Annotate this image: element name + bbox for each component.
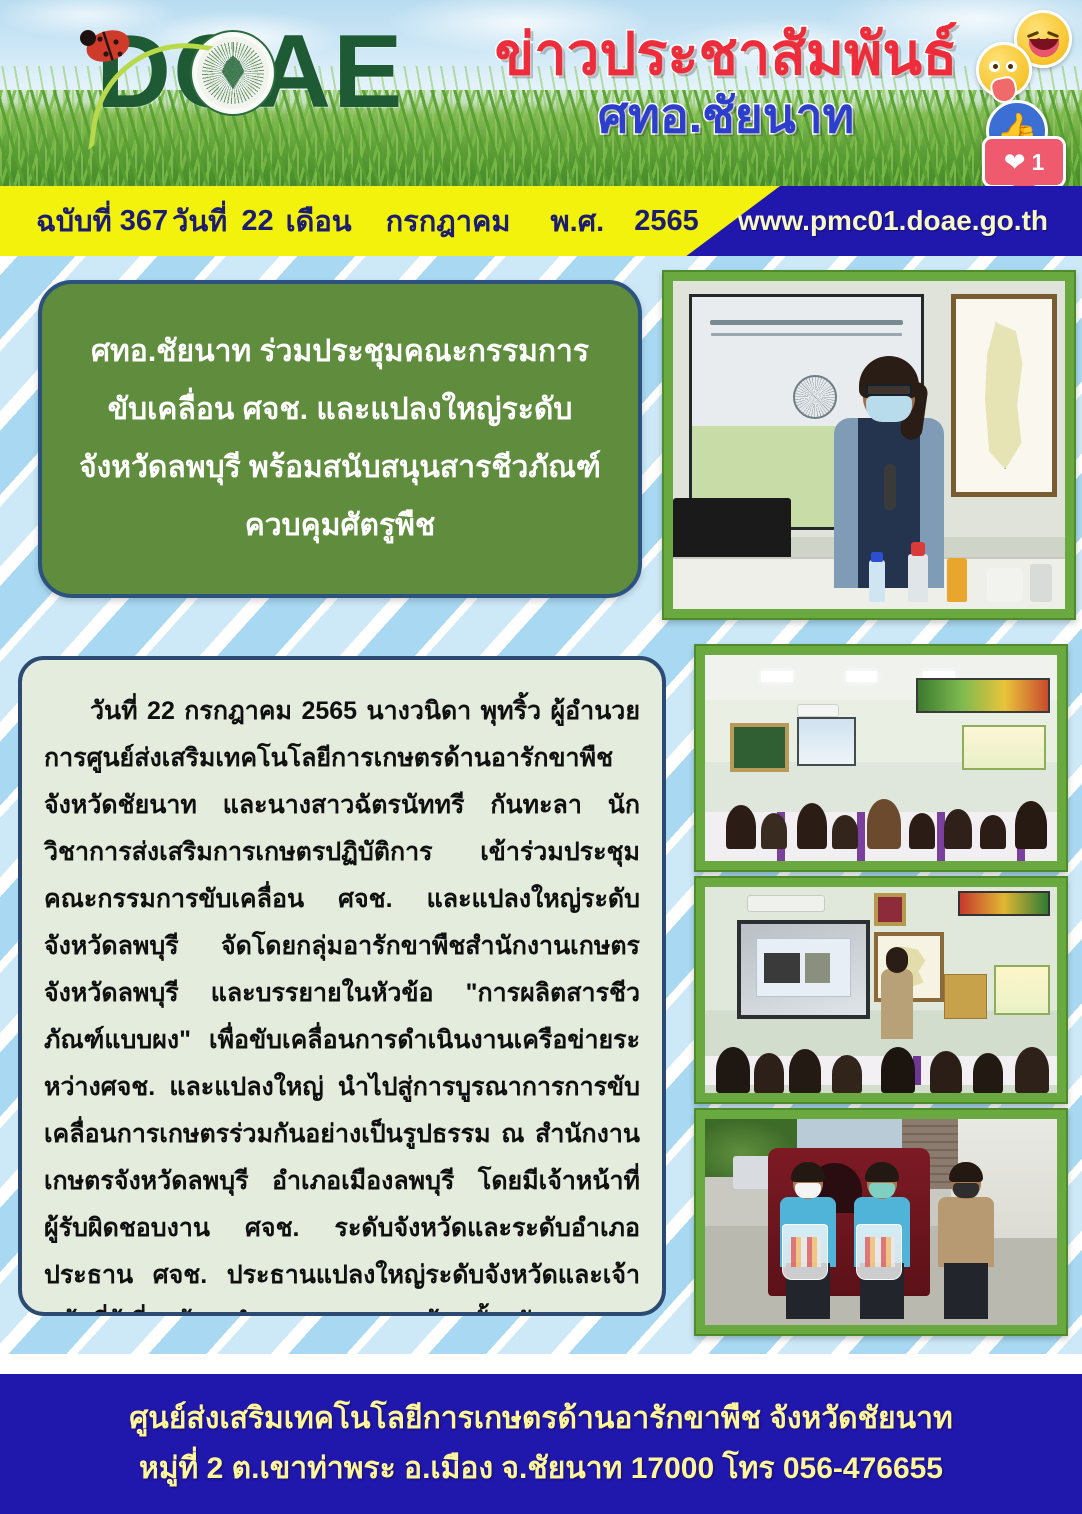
footer-address: หมู่ที่ 2 ต.เขาท่าพระ อ.เมือง จ.ชัยนาท 1…	[139, 1447, 943, 1491]
issue-bar: ฉบับที่ 367 วันที่ 22 เดือน กรกฎาคม พ.ศ.…	[0, 186, 1082, 256]
photo-classroom-rear-view	[694, 644, 1068, 872]
air-conditioner	[747, 895, 824, 911]
content-area: ศทอ.ชัยนาท ร่วมประชุมคณะกรรมการ ขับเคลื่…	[0, 256, 1082, 1354]
headline-card-line-3: จังหวัดลพบุรี พร้อมสนับสนุนสารชีวภัณฑ์	[79, 439, 601, 497]
shrine-shelf	[944, 974, 986, 1019]
supply-bag-1	[782, 1224, 828, 1280]
month-label: เดือน	[286, 198, 352, 244]
article-body-text: วันที่ 22 กรกฎาคม 2565 นางวนิดา พุทริ้ว …	[44, 688, 640, 1316]
air-conditioner	[797, 704, 839, 716]
date-label: วันที่	[172, 198, 227, 244]
audience-figures	[705, 758, 1057, 849]
issue-info: ฉบับที่ 367 วันที่ 22 เดือน กรกฎาคม พ.ศ.…	[36, 186, 699, 256]
supply-bag-2	[856, 1224, 902, 1280]
header-banner: DOAE ข่าวประชาสัมพันธ์ ศทอ.ชัยนาท	[0, 0, 1082, 186]
issue-year: 2565	[634, 205, 699, 238]
newsletter-page: DOAE ข่าวประชาสัมพันธ์ ศทอ.ชัยนาท	[0, 0, 1082, 1514]
banner-headline-line2: ศทอ.ชัยนาท	[466, 88, 986, 146]
website-url[interactable]: www.pmc01.doae.go.th	[738, 186, 1048, 256]
window	[994, 965, 1050, 1014]
issue-day: 22	[241, 205, 273, 238]
headline-card-text: ศทอ.ชัยนาท ร่วมประชุมคณะกรรมการ ขับเคลื่…	[51, 323, 629, 555]
issue-number: 367	[120, 205, 168, 238]
heart-icon: ❤	[1004, 149, 1026, 175]
officer-figure-3	[930, 1165, 1002, 1325]
wall-map	[951, 294, 1057, 497]
issue-label: ฉบับที่	[36, 198, 112, 244]
projector-screen	[737, 920, 871, 1019]
footer-contact-bar: ศูนย์ส่งเสริมเทคโนโลยีการเกษตรด้านอารักข…	[0, 1374, 1082, 1514]
article-body-card: วันที่ 22 กรกฎาคม 2565 นางวนิดา พุทริ้ว …	[18, 656, 666, 1316]
social-reactions-stack: 👍 ❤ 1	[960, 8, 1076, 184]
headline-card-line-2: ขับเคลื่อน ศจช. และแปลงใหญ่ระดับ	[79, 381, 601, 439]
issue-month: กรกฎาคม	[386, 198, 511, 244]
royal-portrait	[874, 893, 906, 926]
heart-count-value: 1	[1032, 149, 1045, 176]
era-label: พ.ศ.	[551, 198, 605, 244]
headline-card-line-1: ศทอ.ชัยนาท ร่วมประชุมคณะกรรมการ	[79, 323, 601, 381]
headline-card-line-4: ควบคุมศัตรูพืช	[79, 497, 601, 555]
photo-handover-biological-agents	[694, 1108, 1068, 1336]
audience-figures	[705, 1023, 1057, 1093]
banner-headline: ข่าวประชาสัมพันธ์ ศทอ.ชัยนาท	[466, 22, 986, 146]
photo-presentation-audience	[694, 876, 1068, 1104]
photo-presenter-with-projector	[662, 270, 1076, 620]
wall-banner	[958, 891, 1050, 916]
banner-headline-line1: ข่าวประชาสัมพันธ์	[466, 22, 986, 88]
heart-count-badge[interactable]: ❤ 1	[982, 136, 1066, 186]
headline-card: ศทอ.ชัยนาท ร่วมประชุมคณะกรรมการ ขับเคลื่…	[38, 280, 642, 598]
footer-separator	[0, 1354, 1082, 1374]
ladybug-icon	[78, 24, 134, 66]
presenter-figure	[830, 360, 948, 609]
thinking-emoji-icon	[976, 42, 1032, 98]
footer-org-name: ศูนย์ส่งเสริมเทคโนโลยีการเกษตรด้านอารักข…	[129, 1397, 952, 1441]
wall-banner	[916, 678, 1050, 713]
